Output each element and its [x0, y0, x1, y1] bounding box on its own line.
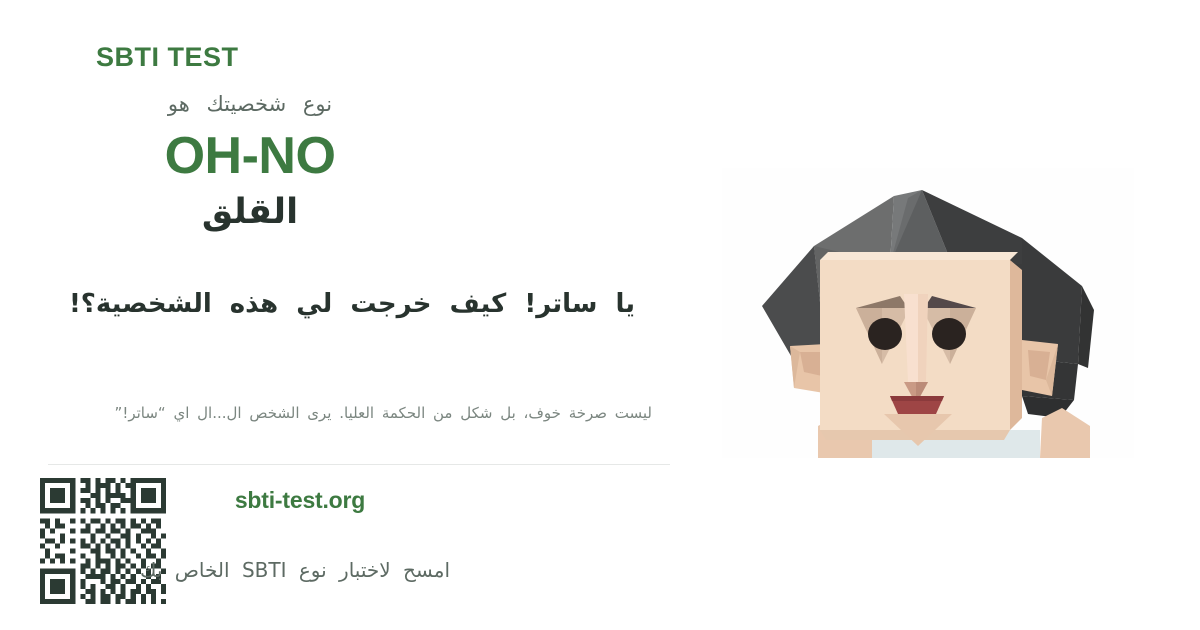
page-title: SBTI TEST — [96, 42, 239, 73]
content-column: SBTI TEST نوع شخصيتك هو OH-NO القلق يا س… — [0, 0, 700, 630]
result-kicker: نوع شخصيتك هو — [40, 92, 460, 116]
result-description: ليست صرخة خوف، بل شكل من الحكمة العليا. … — [58, 400, 652, 426]
scan-cta-text: امسح لاختبار نوع SBTI الخاص بك — [80, 558, 510, 582]
result-card: SBTI TEST نوع شخصيتك هو OH-NO القلق يا س… — [0, 0, 1200, 630]
section-divider — [48, 464, 670, 465]
personality-illustration — [722, 168, 1134, 458]
personality-type-name: القلق — [40, 192, 460, 232]
personality-type-code: OH-NO — [40, 128, 460, 184]
result-tagline: يا ساتر! كيف خرجت لي هذه الشخصية؟! — [52, 288, 652, 322]
site-url[interactable]: sbti-test.org — [90, 487, 510, 514]
